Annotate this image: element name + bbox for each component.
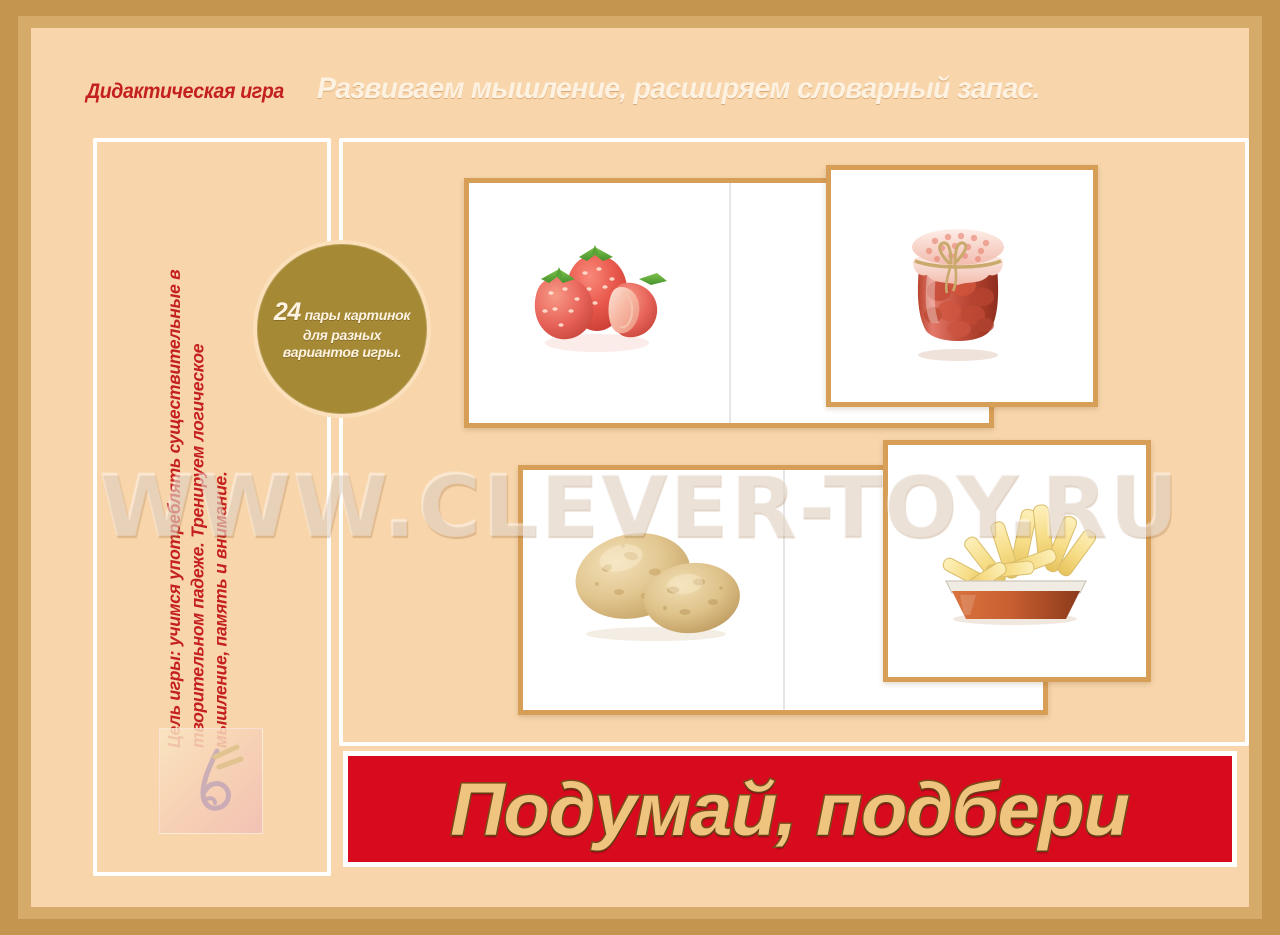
- potatoes-icon: [561, 522, 751, 642]
- card-jam-jar[interactable]: [826, 165, 1098, 407]
- french-fries-icon: [920, 497, 1110, 627]
- game-title-banner: Подумай, подбери: [343, 751, 1237, 867]
- pairs-count-text: пары картинок для разных вариантов игры.: [283, 307, 410, 360]
- game-title: Подумай, подбери: [451, 767, 1129, 852]
- header-kicker: Дидактическая игра: [86, 80, 284, 104]
- jam-jar-icon: [893, 205, 1023, 365]
- card-divider: [783, 470, 785, 710]
- brand-logo: [159, 728, 263, 834]
- page-title: Развиваем мышление, расширяем словарный …: [317, 72, 1040, 106]
- pairs-count-number: 24: [274, 298, 301, 326]
- poster-root: Дидактическая игра Развиваем мышление, р…: [0, 0, 1280, 935]
- frame-middle-border: Дидактическая игра Развиваем мышление, р…: [18, 16, 1262, 919]
- pairs-count-badge-label: 24 пары картинок для разных вариантов иг…: [257, 298, 427, 361]
- pairs-count-badge: 24 пары картинок для разных вариантов иг…: [253, 240, 431, 418]
- card-divider: [729, 183, 731, 423]
- strawberries-icon: [517, 231, 677, 366]
- header: Дидактическая игра Развиваем мышление, р…: [86, 72, 1209, 116]
- frame-inner-background: Дидактическая игра Развиваем мышление, р…: [31, 28, 1249, 907]
- logo-letter-v-icon: [171, 741, 251, 821]
- card-french-fries[interactable]: [883, 440, 1151, 682]
